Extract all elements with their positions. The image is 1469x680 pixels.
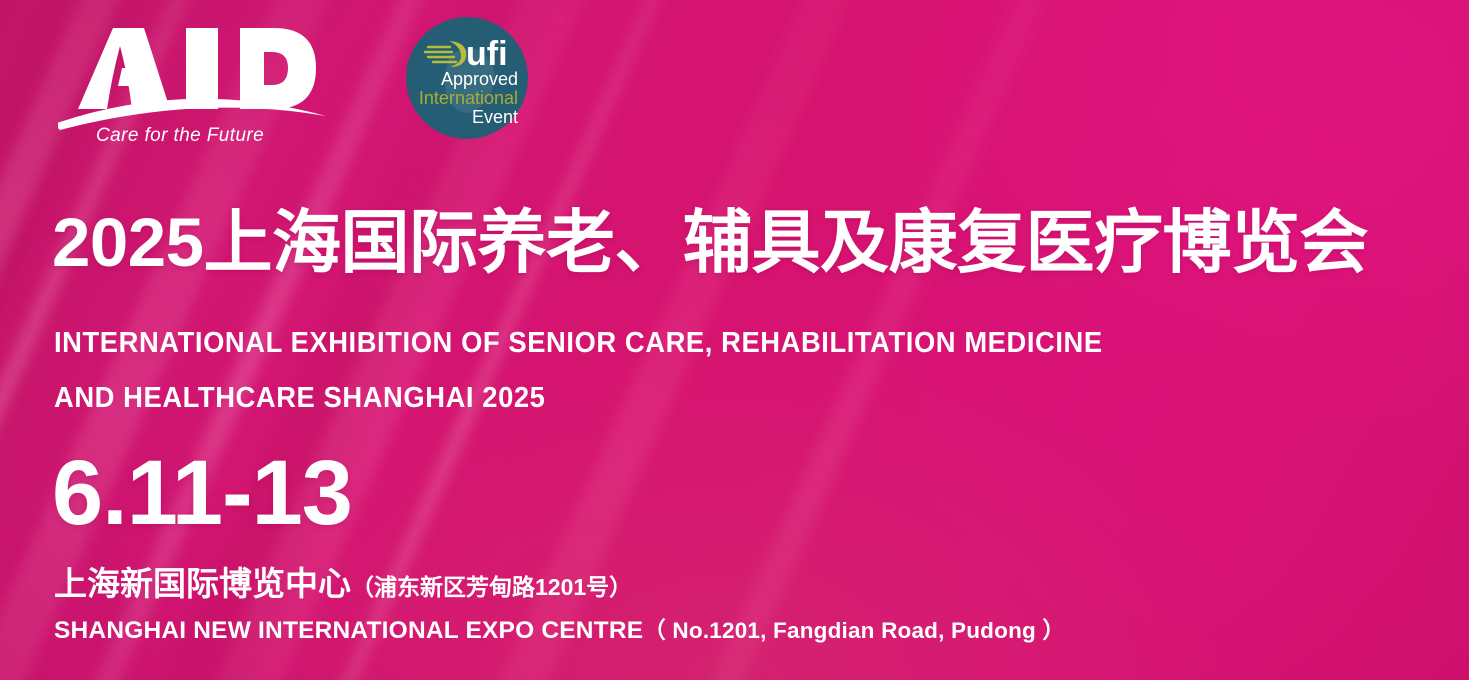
- ufi-approved-event-badge[interactable]: ufi Approved International Event: [406, 17, 528, 139]
- venue-en: SHANGHAI NEW INTERNATIONAL EXPO CENTRE（ …: [54, 619, 1065, 644]
- venue-cn-name: 上海新国际博览中心: [54, 565, 351, 602]
- ufi-line-approved: Approved: [441, 69, 518, 89]
- event-date: 6.11-13: [52, 447, 352, 539]
- event-title-en-line2: AND HEALTHCARE SHANGHAI 2025: [54, 371, 1103, 426]
- event-title-en-line1: INTERNATIONAL EXHIBITION OF SENIOR CARE,…: [54, 316, 1103, 371]
- event-title-en: INTERNATIONAL EXHIBITION OF SENIOR CARE,…: [54, 316, 1103, 426]
- exhibition-banner: Care for the Future ufi Approved Interna…: [0, 0, 1469, 680]
- venue-cn-address: （浦东新区芳甸路1201号）: [351, 574, 632, 600]
- venue-en-address: （ No.1201, Fangdian Road, Pudong ）: [643, 618, 1065, 643]
- venue-en-name: SHANGHAI NEW INTERNATIONAL EXPO CENTRE: [54, 617, 643, 644]
- ufi-line-event: Event: [472, 107, 518, 127]
- aid-logo-tagline: Care for the Future: [96, 125, 264, 146]
- ufi-wordmark: ufi: [466, 35, 508, 73]
- event-title-cn: 2025上海国际养老、辅具及康复医疗博览会: [52, 208, 1368, 277]
- ufi-line-international: International: [419, 88, 518, 108]
- venue-cn: 上海新国际博览中心（浦东新区芳甸路1201号）: [54, 567, 632, 600]
- aid-logo[interactable]: Care for the Future: [58, 16, 358, 146]
- aid-logo-letters: [78, 28, 316, 109]
